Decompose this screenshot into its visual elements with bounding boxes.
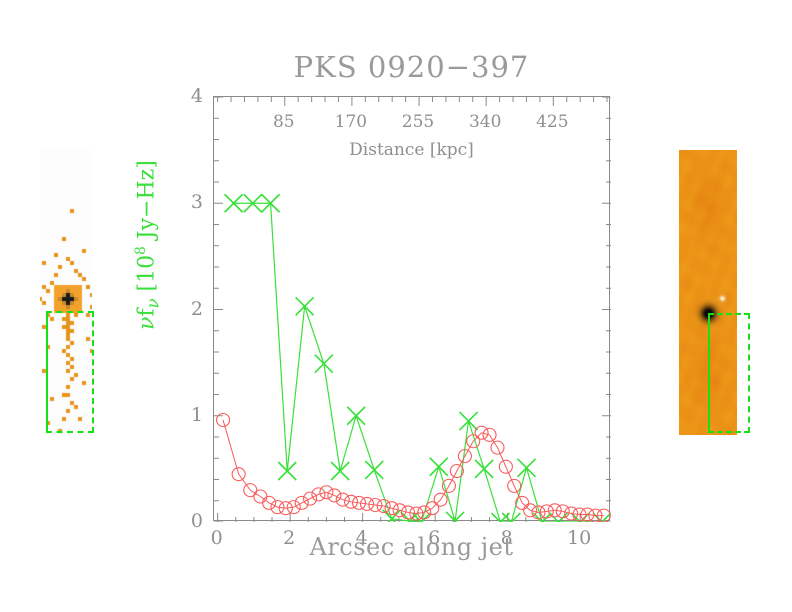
xray-region-box <box>46 311 94 433</box>
top-tick-label: 425 <box>536 112 568 132</box>
y-axis-label: νfν [108 Jy−Hz] <box>133 160 163 330</box>
y-tick-label: 2 <box>191 298 203 320</box>
top-tick-label: 255 <box>402 112 434 132</box>
top-tick-label: 340 <box>469 112 501 132</box>
x-axis-label: Arcsec along jet <box>213 533 610 561</box>
y-tick-label: 0 <box>191 510 203 532</box>
top-tick-label: 170 <box>335 112 367 132</box>
plot-area <box>214 97 609 520</box>
radio-region-box <box>708 313 750 433</box>
page-title: PKS 0920−397 <box>213 50 610 84</box>
y-tick-label: 1 <box>191 404 203 426</box>
y-tick-label: 3 <box>191 191 203 213</box>
y-tick-label: 4 <box>191 85 203 107</box>
top-tick-label: 85 <box>273 112 295 132</box>
series-circle <box>217 414 611 523</box>
top-axis-label: Distance [kpc] <box>213 140 610 160</box>
series-cross <box>225 194 611 522</box>
figure-canvas: PKS 0920−397 Distance [kpc] 851702553404… <box>0 0 792 612</box>
